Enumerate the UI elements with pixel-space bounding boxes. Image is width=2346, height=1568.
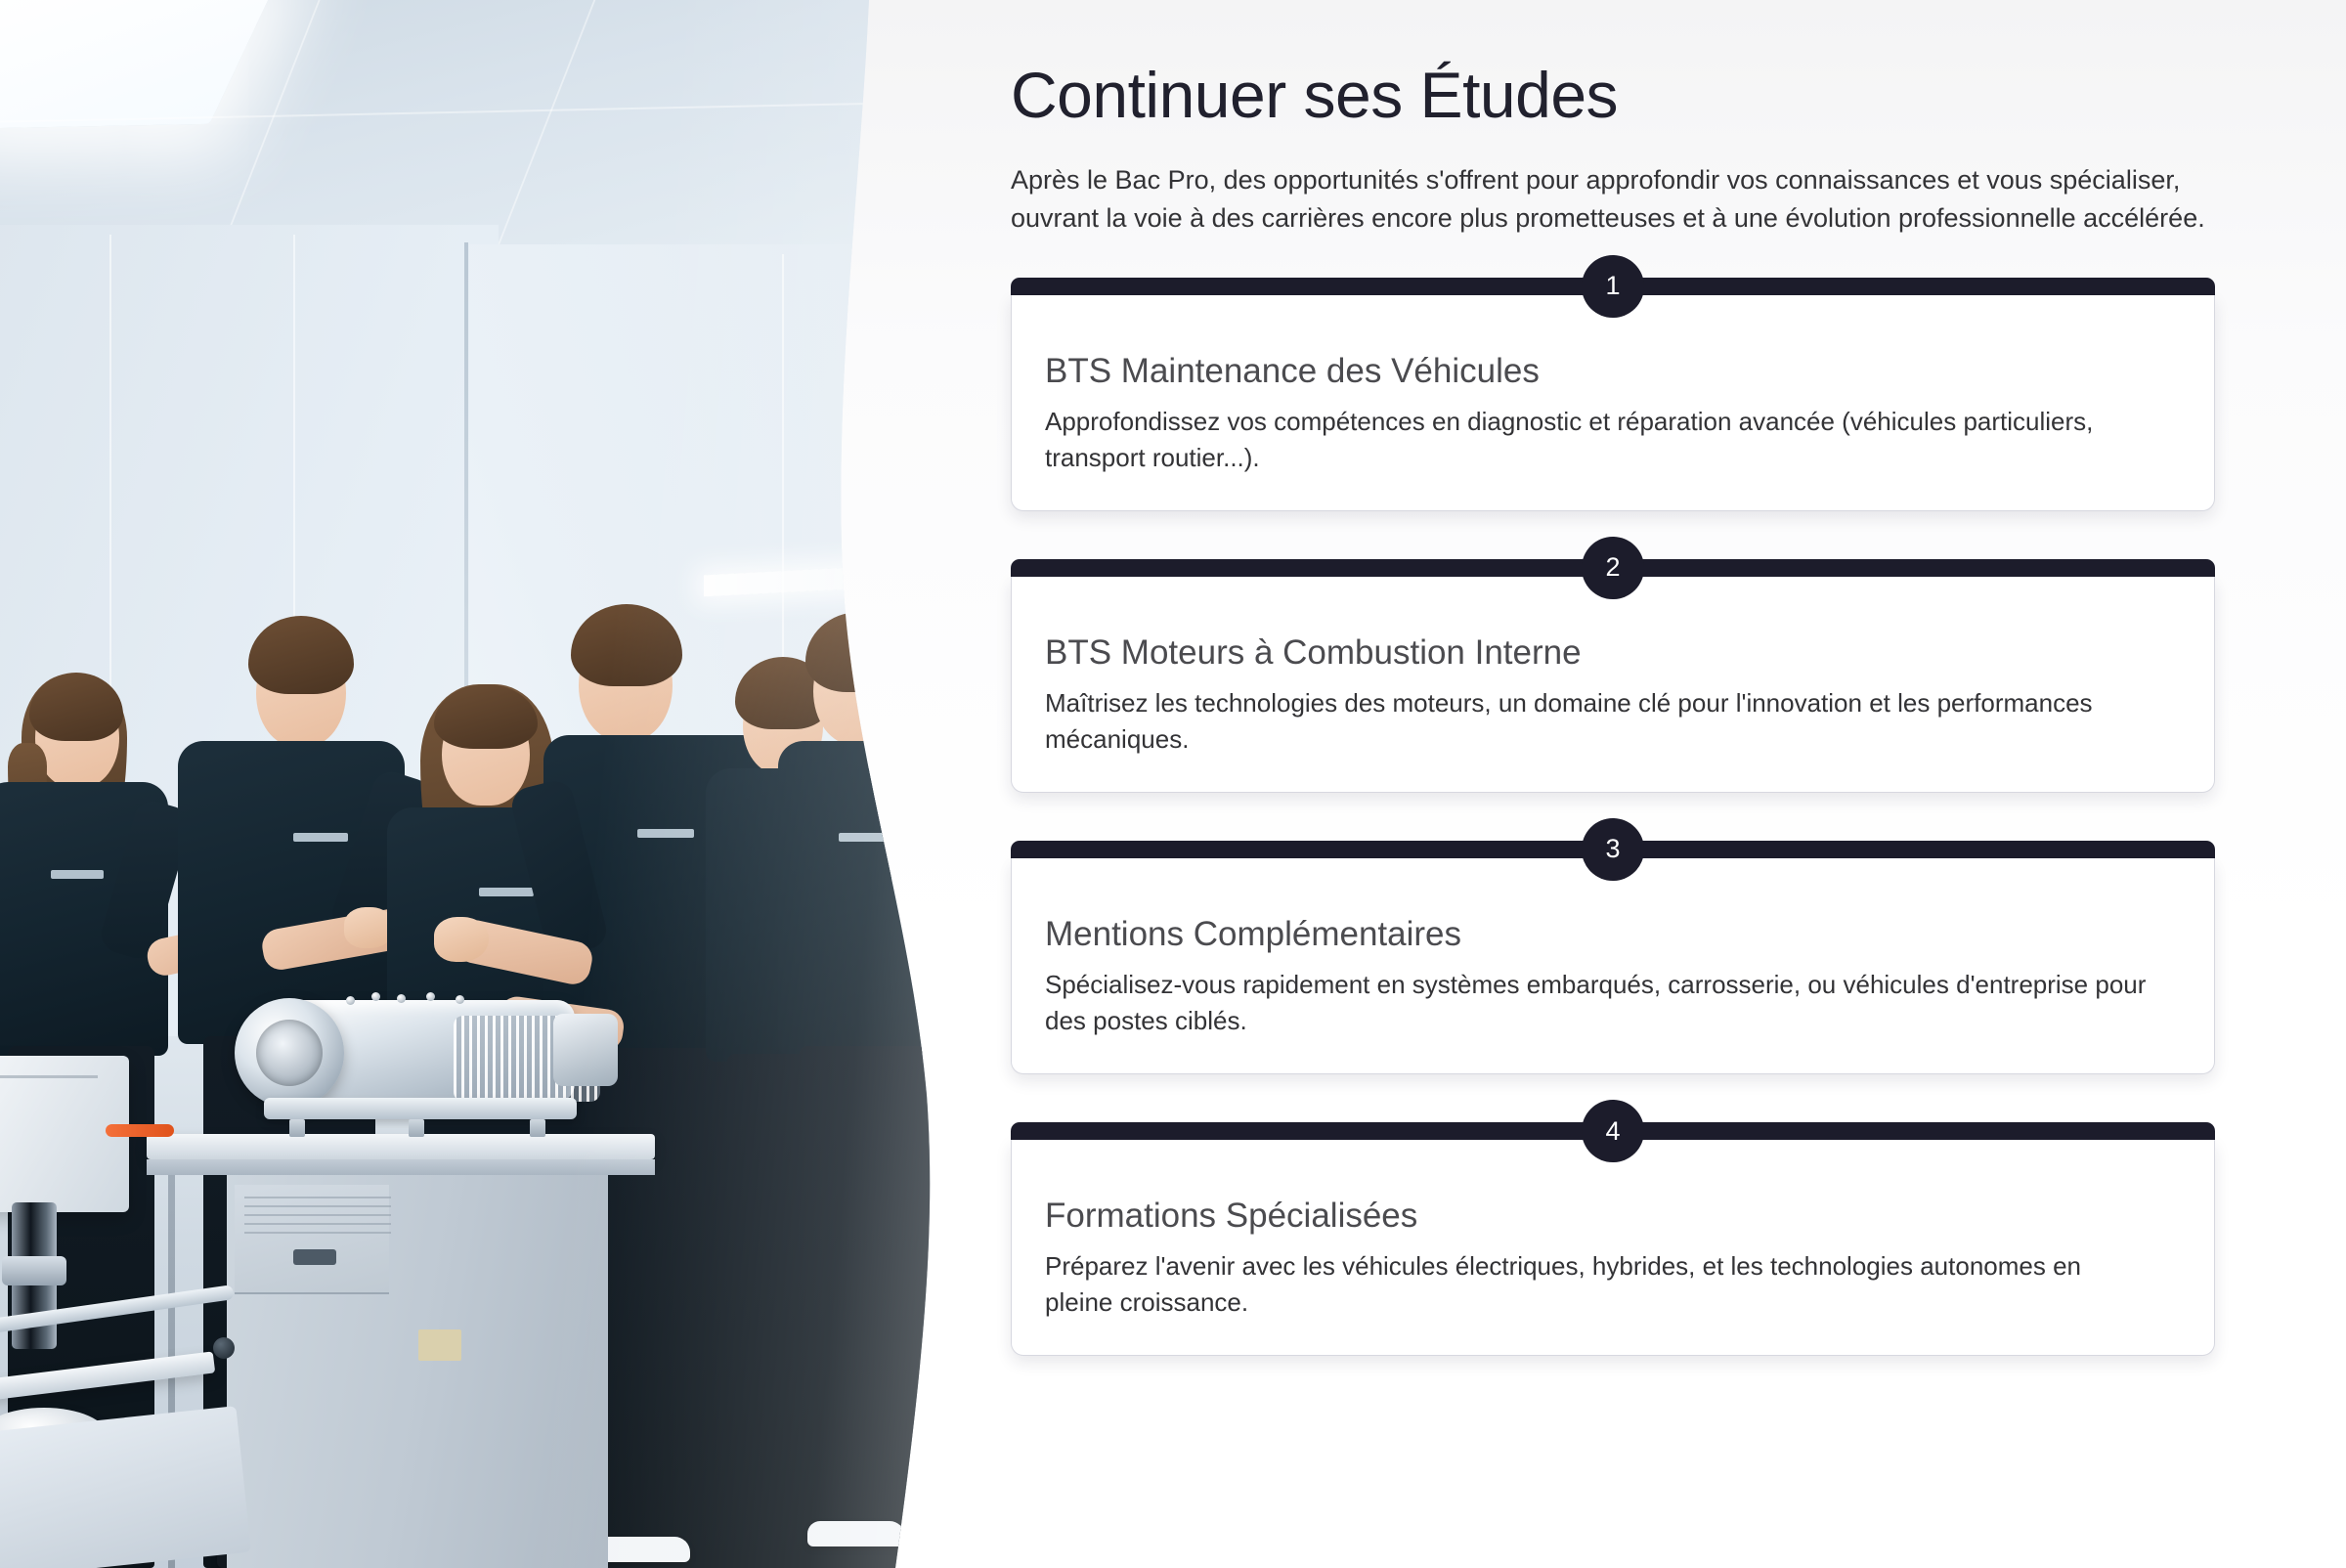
step-number-badge: 2 xyxy=(1582,537,1644,599)
rail-knob xyxy=(213,1337,235,1359)
workbench-edge xyxy=(147,1159,655,1175)
engine-drum xyxy=(235,998,344,1108)
foreground-plate xyxy=(0,1406,251,1568)
step-card[interactable]: BTS Moteurs à Combustion Interne Maîtris… xyxy=(1011,577,2215,793)
orange-cable xyxy=(106,1124,174,1137)
step-description: Préparez l'avenir avec les véhicules éle… xyxy=(1045,1248,2150,1320)
step-card[interactable]: BTS Maintenance des Véhicules Approfondi… xyxy=(1011,295,2215,511)
ceiling-seam xyxy=(482,0,614,283)
cabinet-label xyxy=(418,1329,461,1361)
step-description: Approfondissez vos compétences en diagno… xyxy=(1045,404,2150,475)
step-item[interactable]: 2 BTS Moteurs à Combustion Interne Maîtr… xyxy=(1011,559,2215,793)
intro-paragraph: Après le Bac Pro, des opportunités s'off… xyxy=(1011,161,2213,237)
step-title: BTS Moteurs à Combustion Interne xyxy=(1045,633,2181,673)
engine-endcap xyxy=(553,1014,618,1086)
engine-base xyxy=(264,1098,577,1119)
content-column: Continuer ses Études Après le Bac Pro, d… xyxy=(1011,0,2215,1568)
cabinet-drawer xyxy=(235,1185,389,1294)
engine-model xyxy=(225,992,635,1149)
tool-cabinet xyxy=(227,1175,608,1568)
step-number-badge: 4 xyxy=(1582,1100,1644,1162)
step-number-badge: 3 xyxy=(1582,818,1644,881)
step-item[interactable]: 3 Mentions Complémentaires Spécialisez-v… xyxy=(1011,841,2215,1074)
step-title: BTS Maintenance des Véhicules xyxy=(1045,352,2181,391)
step-card[interactable]: Formations Spécialisées Préparez l'aveni… xyxy=(1011,1140,2215,1356)
engine-drum-hub xyxy=(256,1020,323,1086)
page-title: Continuer ses Études xyxy=(1011,61,2215,130)
spindle-collar xyxy=(2,1256,66,1285)
drawer-handle xyxy=(293,1249,336,1265)
equipment-seam xyxy=(0,1075,98,1078)
photo-scene xyxy=(0,0,938,1568)
step-item[interactable]: 4 Formations Spécialisées Préparez l'ave… xyxy=(1011,1122,2215,1356)
step-description: Maîtrisez les technologies des moteurs, … xyxy=(1045,685,2150,757)
step-title: Formations Spécialisées xyxy=(1045,1197,2181,1236)
slide-root: Continuer ses Études Après le Bac Pro, d… xyxy=(0,0,2346,1568)
cabinet-vents xyxy=(244,1197,391,1236)
step-number-badge: 1 xyxy=(1582,255,1644,318)
step-item[interactable]: 1 BTS Maintenance des Véhicules Approfon… xyxy=(1011,278,2215,511)
steps-list: 1 BTS Maintenance des Véhicules Approfon… xyxy=(1011,278,2215,1356)
step-title: Mentions Complémentaires xyxy=(1045,915,2181,954)
step-card[interactable]: Mentions Complémentaires Spécialisez-vou… xyxy=(1011,858,2215,1074)
step-description: Spécialisez-vous rapidement en systèmes … xyxy=(1045,967,2150,1038)
workshop-photo xyxy=(0,0,938,1568)
ceiling-light-panel xyxy=(0,0,272,130)
